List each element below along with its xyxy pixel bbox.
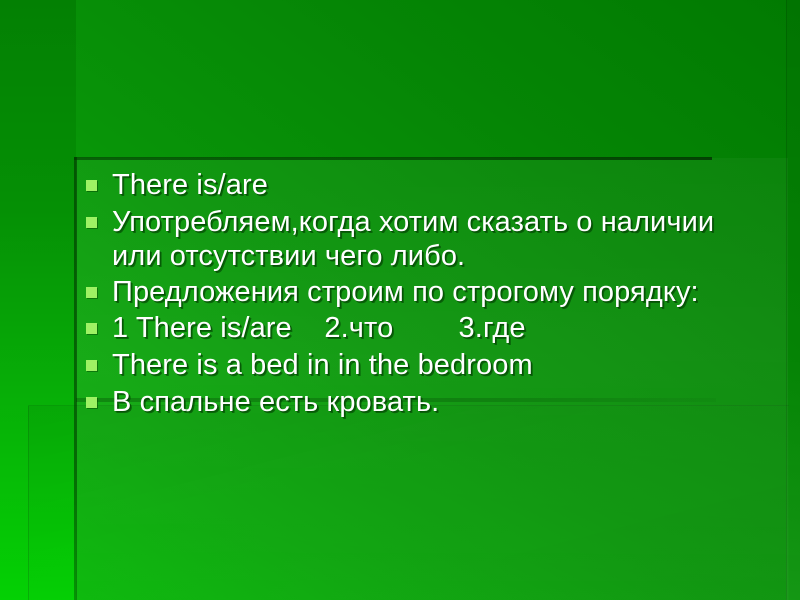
decorative-right-edge-band <box>786 0 800 600</box>
square-bullet-icon <box>86 397 97 408</box>
bullet-text-1: There is/are <box>112 168 746 203</box>
bullet-text-3: Предложения строим по строгому порядку: <box>112 275 746 309</box>
list-item: Употребляем,когда хотим сказать о наличи… <box>86 205 746 273</box>
list-item: 1 There is/are 2.что 3.где <box>86 311 746 346</box>
bullet-text-6: В спальне есть кровать. <box>112 385 746 420</box>
decorative-left-gradient-panel <box>0 0 76 600</box>
decorative-lower-panel <box>28 405 789 600</box>
presentation-slide: There is/are Употребляем,когда хотим ска… <box>0 0 800 600</box>
square-bullet-icon <box>86 217 97 228</box>
horizontal-divider-rule <box>74 157 712 160</box>
list-item: Предложения строим по строгому порядку: <box>86 275 746 309</box>
list-item: There is a bed in in the bedroom <box>86 348 746 383</box>
list-item: В спальне есть кровать. <box>86 385 746 420</box>
vertical-divider-rule <box>74 157 77 600</box>
square-bullet-icon <box>86 287 97 298</box>
bullet-text-4: 1 There is/are 2.что 3.где <box>112 311 746 346</box>
square-bullet-icon <box>86 323 97 334</box>
slide-bullet-list: There is/are Употребляем,когда хотим ска… <box>86 168 746 422</box>
list-item: There is/are <box>86 168 746 203</box>
bullet-text-2: Употребляем,когда хотим сказать о наличи… <box>112 205 746 273</box>
square-bullet-icon <box>86 180 97 191</box>
bullet-text-5: There is a bed in in the bedroom <box>112 348 746 383</box>
square-bullet-icon <box>86 360 97 371</box>
